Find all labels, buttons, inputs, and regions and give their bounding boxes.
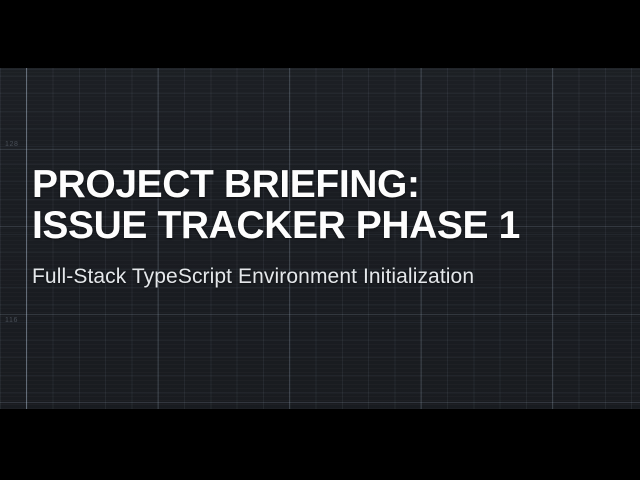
title-line-1: PROJECT BRIEFING: (32, 164, 628, 205)
vertical-axis-rule (26, 68, 27, 409)
axis-tick-label-128: 128 (5, 141, 18, 148)
letterbox-bar-top (0, 0, 640, 68)
title-line-2: ISSUE TRACKER PHASE 1 (32, 205, 628, 246)
axis-tick-label-116: 116 (5, 317, 18, 324)
presentation-stage: 128 116 PROJECT BRIEFING: ISSUE TRACKER … (0, 68, 640, 409)
headline-block: PROJECT BRIEFING: ISSUE TRACKER PHASE 1 … (32, 164, 628, 290)
title-card-screen: 128 116 PROJECT BRIEFING: ISSUE TRACKER … (0, 0, 640, 480)
letterbox-bar-bottom (0, 409, 640, 480)
subtitle-text: Full-Stack TypeScript Environment Initia… (32, 246, 628, 290)
